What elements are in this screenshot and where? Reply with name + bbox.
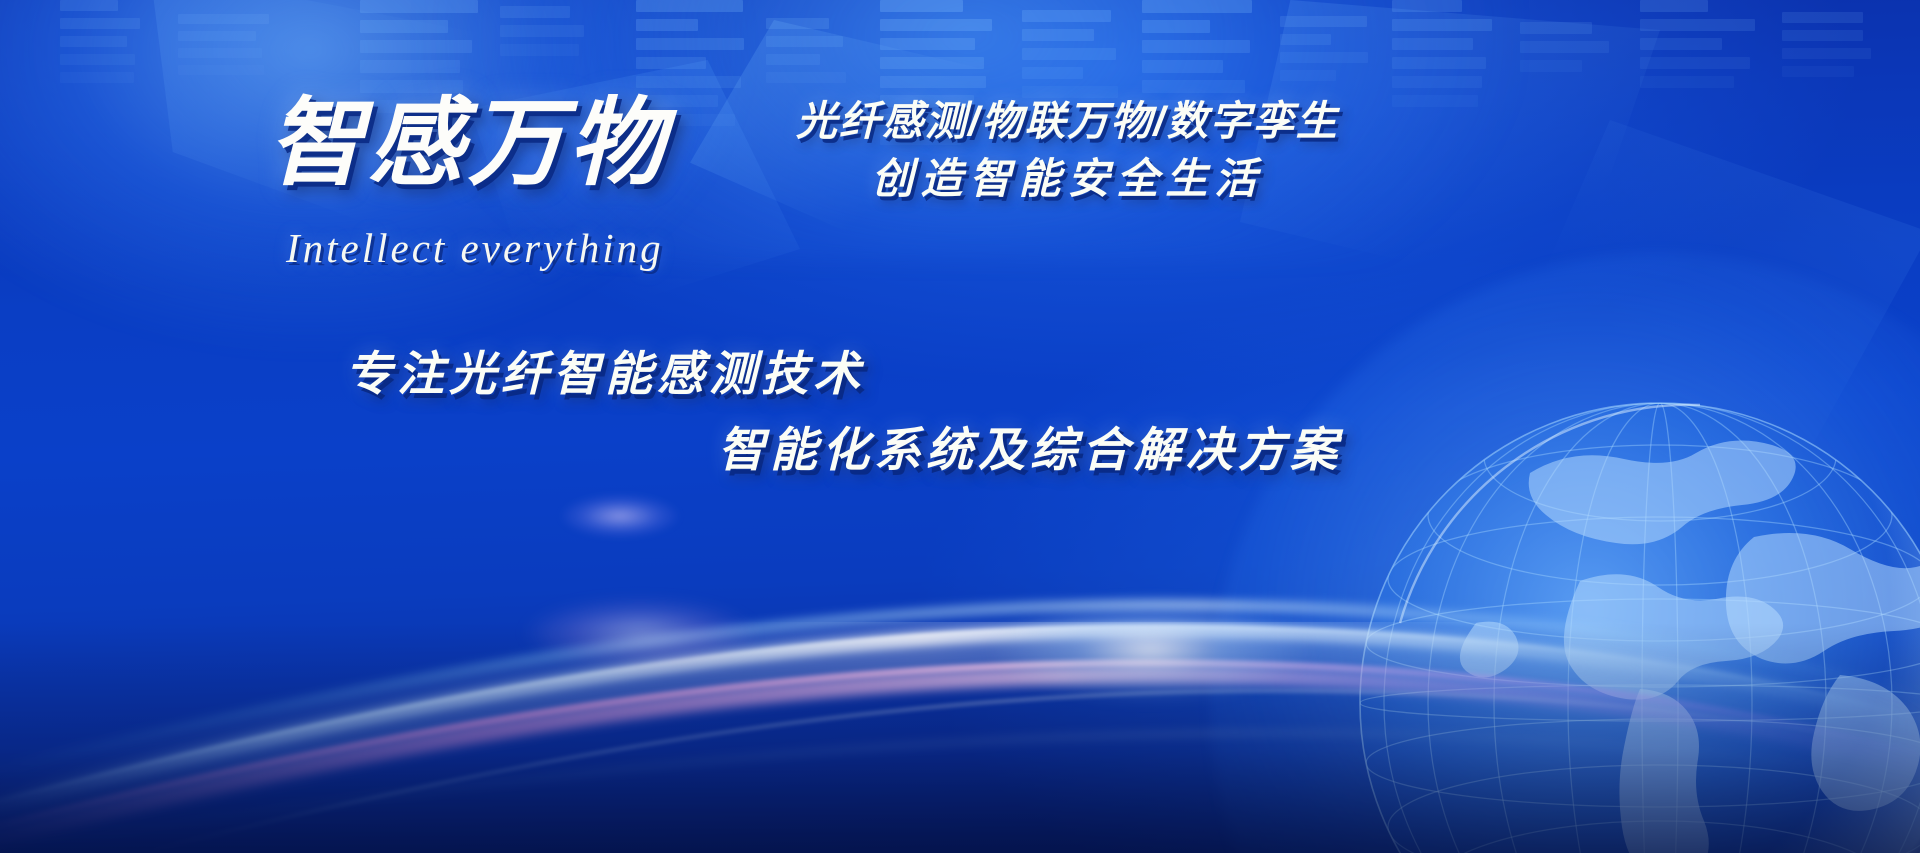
tagline-line-2: 创造智能安全生活 xyxy=(871,157,1263,202)
headline-chinese: 智感万物 xyxy=(268,96,668,192)
tagline-line-1: 光纤感测/物联万物/数字孪生 xyxy=(796,100,1339,143)
banner-copy: 智感万物 Intellect everything 光纤感测/物联万物/数字孪生… xyxy=(0,0,1920,853)
body-line-2: 智能化系统及综合解决方案 xyxy=(718,426,1342,473)
promo-banner: 智感万物 Intellect everything 光纤感测/物联万物/数字孪生… xyxy=(0,0,1920,853)
body-line-1: 专注光纤智能感测技术 xyxy=(345,350,865,397)
tagline-block: 光纤感测/物联万物/数字孪生 创造智能安全生活 xyxy=(796,100,1339,202)
headline-english: Intellect everything xyxy=(286,224,664,272)
